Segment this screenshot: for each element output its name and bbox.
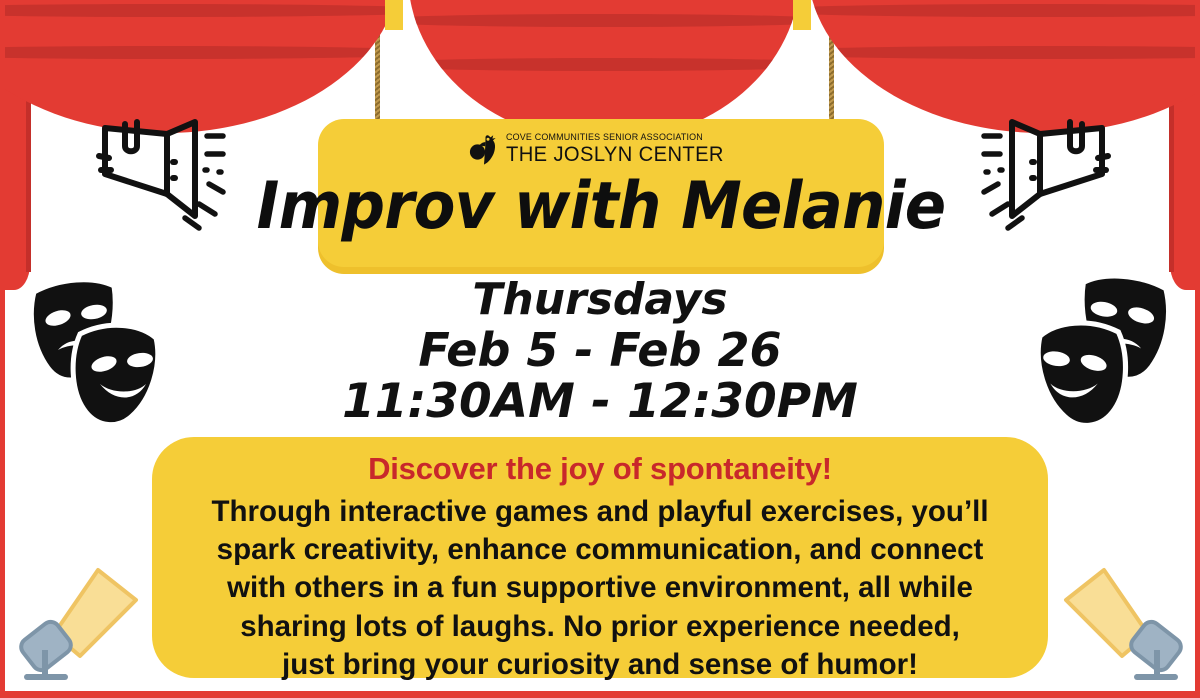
logo-association-line: COVE COMMUNITIES SENIOR ASSOCIATION — [506, 133, 719, 143]
schedule-day: Thursdays — [0, 278, 1200, 323]
schedule-block: Thursdays Feb 5 - Feb 26 11:30AM - 12:30… — [0, 278, 1200, 426]
organization-logo: COVE COMMUNITIES SENIOR ASSOCIATION THE … — [469, 129, 733, 169]
curtain-tab-left — [385, 0, 403, 30]
border-bottom — [0, 691, 1200, 698]
description-line: spark creativity, enhance communication,… — [166, 531, 1034, 569]
page-title: Improv with Melanie — [257, 169, 946, 244]
title-banner: COVE COMMUNITIES SENIOR ASSOCIATION THE … — [318, 119, 884, 267]
description-headline: Discover the joy of spontaneity! — [166, 449, 1034, 489]
improv-class-flyer: COVE COMMUNITIES SENIOR ASSOCIATION THE … — [0, 0, 1200, 698]
curtain-tab-right — [793, 0, 811, 30]
schedule-time: 11:30AM - 12:30PM — [0, 378, 1200, 426]
roadrunner-bird-icon — [469, 133, 499, 165]
description-line: just bring your curiosity and sense of h… — [166, 646, 1034, 684]
description-line: with others in a fun supportive environm… — [166, 569, 1034, 607]
description-body: Through interactive games and playful ex… — [166, 493, 1034, 685]
floor-spotlight-icon — [18, 556, 158, 688]
logo-center-name: THE JOSLYN CENTER — [506, 144, 724, 165]
stage-light-icon — [95, 112, 240, 237]
description-line: Through interactive games and playful ex… — [166, 493, 1034, 531]
description-line: sharing lots of laughs. No prior experie… — [166, 608, 1034, 646]
border-left — [0, 0, 5, 698]
description-panel: Discover the joy of spontaneity! Through… — [152, 437, 1048, 678]
floor-spotlight-icon — [1044, 556, 1184, 688]
border-right — [1195, 0, 1200, 698]
schedule-dates: Feb 5 - Feb 26 — [0, 327, 1200, 374]
stage-light-icon — [967, 112, 1112, 237]
